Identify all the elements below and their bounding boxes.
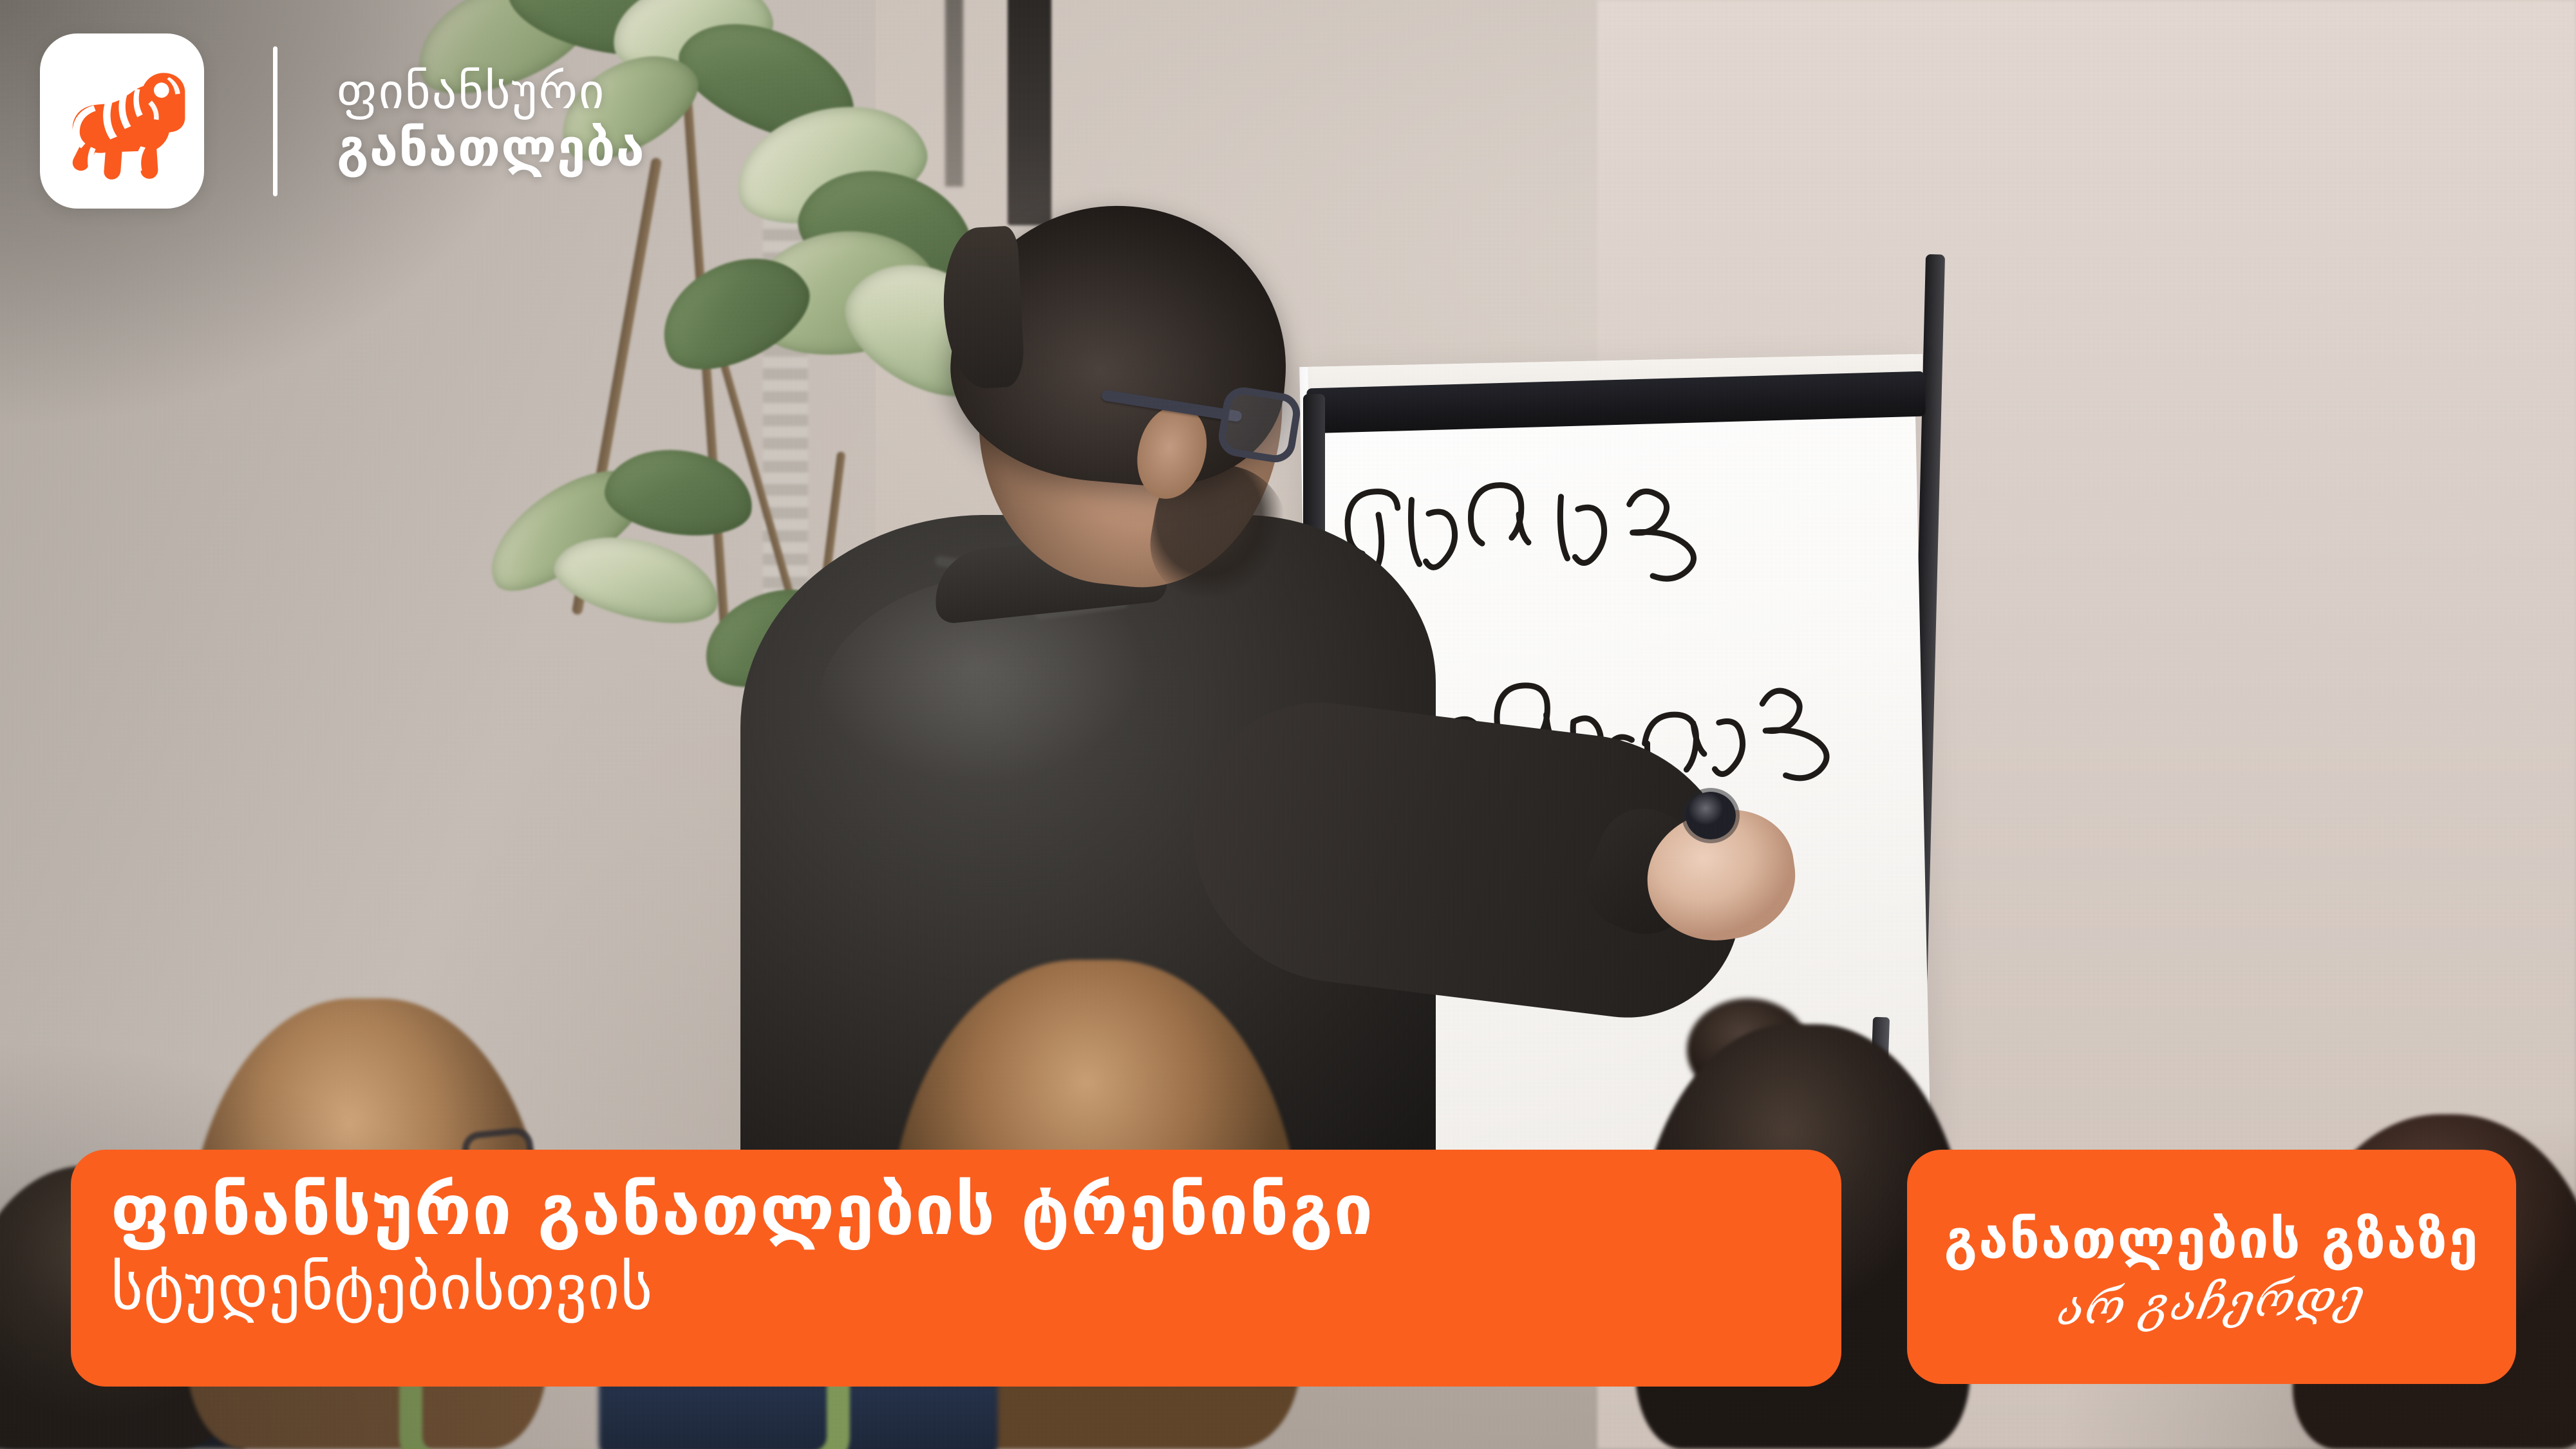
brand-line-1: ფინანსური: [337, 68, 645, 115]
badge-line-2: არ გაჩერდე: [2055, 1271, 2367, 1334]
badge-line-1: განათლების გზაზე: [1944, 1211, 2479, 1267]
glasses-lens-icon: [1216, 384, 1302, 465]
brand-divider: [273, 46, 277, 196]
banner-title: ფინანსური განათლების ტრენინგი: [111, 1173, 1803, 1249]
banner-subtitle: სტუდენტებისთვის: [111, 1253, 1803, 1323]
promo-banner-canvas: ფინანსური განათლება ფინანსური განათლების…: [0, 0, 2576, 1449]
slogan-badge: განათლების გზაზე არ გაჩერდე: [1907, 1150, 2516, 1384]
headline-banner: ფინანსური განათლების ტრენინგი სტუდენტები…: [71, 1150, 1841, 1387]
brand-lockup: ფინანსური განათლება: [40, 33, 645, 209]
marker-pen-icon: [1686, 792, 1736, 839]
brand-logo-tile: [40, 33, 204, 209]
brand-line-2: განათლება: [337, 122, 645, 174]
brand-wordmark: ფინანსური განათლება: [337, 68, 645, 174]
bank-of-georgia-lion-icon: [53, 52, 191, 191]
